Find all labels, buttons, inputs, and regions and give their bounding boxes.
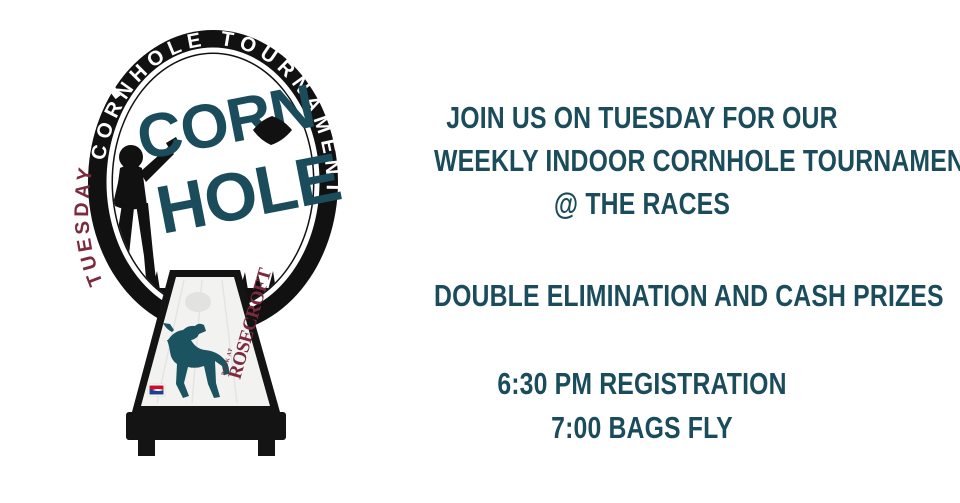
board-base: [126, 412, 286, 440]
invite-line-1: JOIN US ON TUESDAY FOR OUR: [434, 100, 850, 136]
format-line: DOUBLE ELIMINATION AND CASH PRIZES: [434, 278, 850, 314]
cornhole-tournament-poster: CORNHOLE TOURNAMENT TUESDAYS: [0, 0, 960, 503]
board-leg-left: [138, 440, 155, 456]
pepsi-logo-icon: [148, 384, 165, 396]
time-line-registration: 6:30 PM REGISTRATION: [434, 366, 850, 402]
message-column: JOIN US ON TUESDAY FOR OUR WEEKLY INDOOR…: [382, 0, 902, 503]
board-leg-right: [258, 440, 275, 456]
cornhole-board-graphic: BACK AT ROSECROFT: [112, 262, 312, 462]
cornhole-hole-icon: [185, 292, 211, 312]
time-line-bags-fly: 7:00 BAGS FLY: [434, 410, 850, 446]
invite-line-3: @ THE RACES: [434, 186, 850, 222]
board-graphic: BACK AT ROSECROFT: [112, 262, 312, 462]
invite-line-2: WEEKLY INDOOR CORNHOLE TOURNAMENT: [434, 143, 850, 179]
